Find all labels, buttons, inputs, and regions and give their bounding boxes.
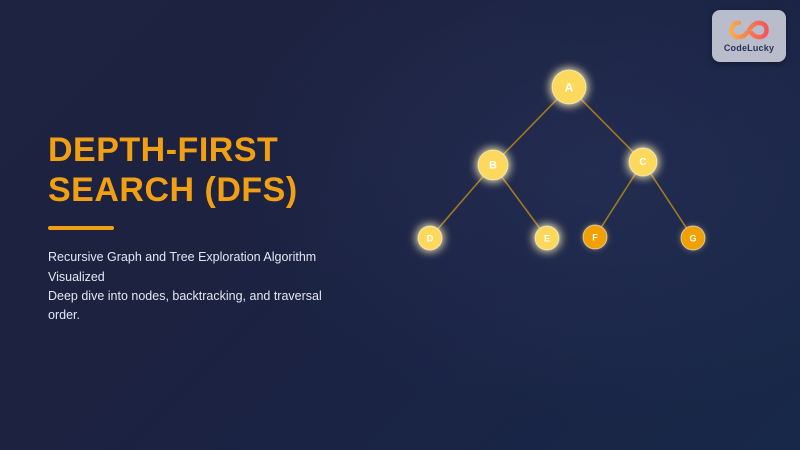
tree-node-label: G bbox=[689, 234, 696, 244]
tree-edge-b-e bbox=[501, 176, 540, 229]
tree-node-f[interactable]: F bbox=[583, 225, 607, 249]
tree-node-d[interactable]: D bbox=[418, 226, 442, 250]
binary-tree-diagram: ABCDEFG bbox=[0, 0, 800, 450]
tree-edge-a-b bbox=[503, 98, 558, 155]
tree-node-layer: ABCDEFG bbox=[418, 70, 705, 250]
tree-edge-c-g bbox=[650, 173, 687, 229]
tree-node-g[interactable]: G bbox=[681, 226, 705, 250]
tree-node-c[interactable]: C bbox=[629, 148, 657, 176]
tree-node-label: C bbox=[639, 157, 646, 168]
slide-canvas: Depth-First Search (DFS) Recursive Graph… bbox=[0, 0, 800, 450]
tree-node-label: B bbox=[489, 160, 497, 172]
tree-edge-a-c bbox=[580, 98, 634, 152]
tree-node-e[interactable]: E bbox=[535, 226, 559, 250]
tree-node-label: E bbox=[544, 234, 550, 244]
tree-edge-b-d bbox=[437, 176, 484, 230]
tree-node-label: A bbox=[565, 81, 574, 95]
tree-node-b[interactable]: B bbox=[478, 150, 508, 180]
tree-edge-c-f bbox=[601, 173, 636, 228]
tree-node-label: F bbox=[592, 233, 598, 243]
tree-node-a[interactable]: A bbox=[552, 70, 586, 104]
tree-node-label: D bbox=[427, 234, 434, 244]
